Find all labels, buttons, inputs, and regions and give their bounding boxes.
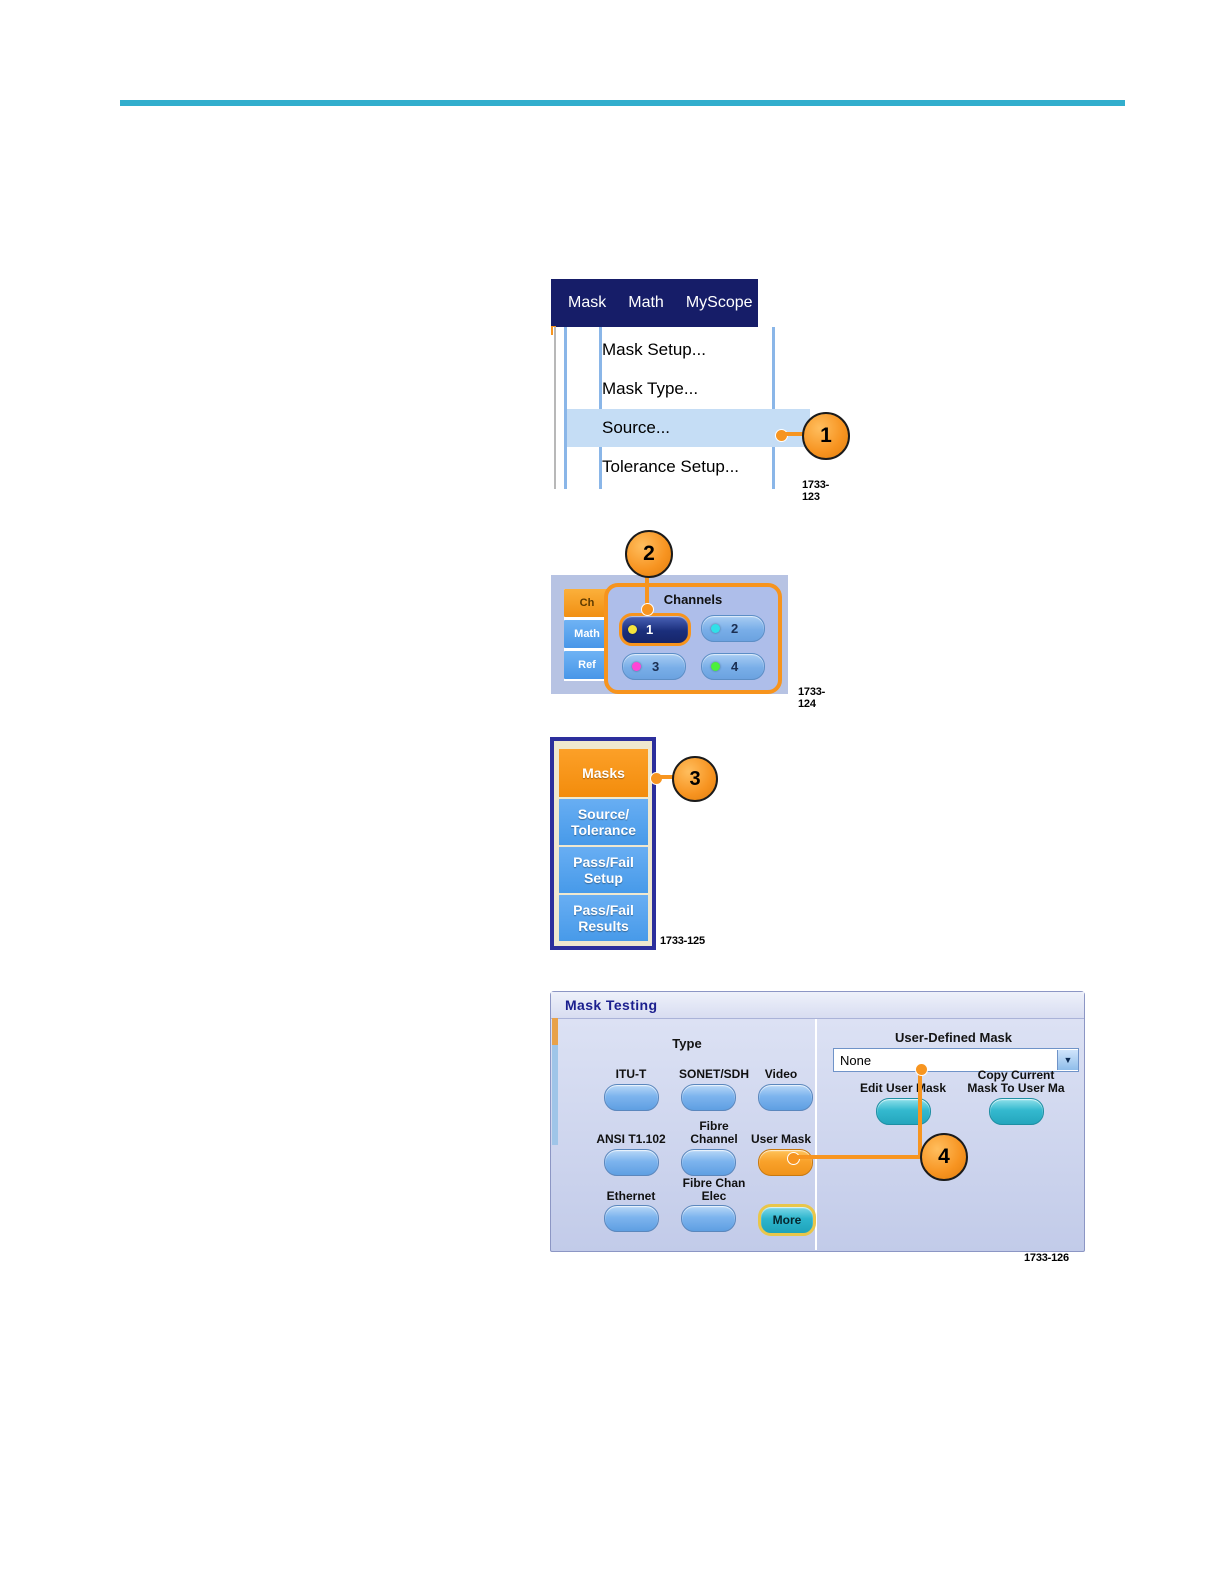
channel-3-led-icon — [632, 662, 641, 671]
copy-current-mask-label: Copy Current Mask To User Ma — [951, 1069, 1081, 1095]
type-button-ethernet[interactable] — [604, 1205, 659, 1232]
user-defined-mask-label: User-Defined Mask — [841, 1030, 1066, 1045]
more-button-label: More — [773, 1213, 802, 1227]
sidemenu-button-passfail-results-label: Pass/Fail Results — [573, 902, 634, 934]
figure-mask-testing-dialog: Mask Testing Type ITU-T SONET/SDH Video … — [550, 991, 1087, 1266]
user-defined-mask-value: None — [834, 1053, 1057, 1068]
type-button-user-mask[interactable] — [758, 1149, 813, 1176]
sidemenu-button-passfail-setup-label: Pass/Fail Setup — [573, 854, 634, 886]
menu-item-source[interactable]: Source... — [567, 409, 810, 447]
left-edge-strip-blue — [552, 1045, 558, 1145]
callout-1: 1 — [802, 412, 850, 460]
type-button-ansi-t1102-label: ANSI T1.102 — [591, 1133, 671, 1146]
oscilloscope-menubar: Mask Math MyScope — [551, 279, 758, 327]
mask-testing-title: Mask Testing — [565, 997, 657, 1013]
mask-testing-window: Mask Testing Type ITU-T SONET/SDH Video … — [550, 991, 1085, 1252]
channel-button-2[interactable]: 2 — [701, 615, 765, 642]
menu-mask[interactable]: Mask — [557, 294, 617, 312]
edit-user-mask-button[interactable] — [876, 1098, 931, 1125]
channels-group-label: Channels — [608, 592, 778, 607]
dropdown-rail-blue-left — [564, 327, 567, 489]
menu-item-tolerance-setup[interactable]: Tolerance Setup... — [602, 448, 775, 486]
sidemenu-button-masks-label: Masks — [582, 765, 625, 781]
type-button-user-mask-label: User Mask — [741, 1133, 821, 1146]
type-button-fibre-chan-elec-label: Fibre Chan Elec — [674, 1177, 754, 1203]
figure-3-caption: 1733-125 — [660, 935, 705, 947]
channels-group: Channels 1 2 3 4 — [604, 583, 782, 694]
channel-2-led-icon — [711, 624, 720, 633]
figure-mask-menu: Mask Math MyScope Mask Setup... Mask Typ… — [551, 279, 788, 489]
type-section-label: Type — [647, 1036, 727, 1051]
channel-1-led-icon — [628, 625, 637, 634]
channel-4-led-icon — [711, 662, 720, 671]
menu-item-mask-setup[interactable]: Mask Setup... — [602, 331, 775, 369]
sidemenu-button-source-tolerance-label: Source/ Tolerance — [571, 806, 636, 838]
sidemenu-button-passfail-results[interactable]: Pass/Fail Results — [559, 895, 648, 941]
channel-button-2-label: 2 — [731, 621, 738, 636]
type-button-video-label: Video — [741, 1068, 821, 1081]
channel-button-1-label: 1 — [646, 622, 653, 637]
type-button-ethernet-label: Ethernet — [591, 1190, 671, 1203]
channel-button-4-label: 4 — [731, 659, 738, 674]
source-tab-ref-label: Ref — [578, 659, 596, 671]
sidemenu-button-passfail-setup[interactable]: Pass/Fail Setup — [559, 847, 648, 893]
copy-current-mask-button[interactable] — [989, 1098, 1044, 1125]
more-button[interactable]: More — [758, 1204, 816, 1236]
source-tab-ch-label: Ch — [580, 597, 595, 609]
figure-2-caption: 1733-124 — [798, 686, 825, 710]
menu-item-source-label: Source... — [602, 418, 670, 438]
chevron-down-icon[interactable]: ▼ — [1057, 1050, 1078, 1070]
figure-channels-source: Ch Math Ref Channels 1 2 3 4 1733-124 — [551, 575, 788, 700]
callout-4-anchor-dot-combobox — [915, 1063, 928, 1076]
channel-button-4[interactable]: 4 — [701, 653, 765, 680]
callout-4-leader-line-horizontal — [795, 1155, 925, 1159]
edit-user-mask-label: Edit User Mask — [843, 1082, 963, 1095]
callout-4: 4 — [920, 1133, 968, 1181]
callout-2: 2 — [625, 530, 673, 578]
type-button-itu-t[interactable] — [604, 1084, 659, 1111]
menu-math[interactable]: Math — [617, 294, 675, 312]
mask-menu-dropdown: Mask Setup... Mask Type... Source... Tol… — [553, 327, 788, 489]
type-button-sonet-sdh[interactable] — [681, 1084, 736, 1111]
channel-button-3[interactable]: 3 — [622, 653, 686, 680]
channel-button-1[interactable]: 1 — [619, 613, 691, 646]
menu-myscope[interactable]: MyScope — [675, 294, 764, 312]
callout-4-leader-line-vertical — [918, 1068, 922, 1158]
figure-4-caption: 1733-126 — [1024, 1252, 1069, 1264]
sidemenu-button-masks[interactable]: Masks — [559, 749, 648, 797]
figure-1-caption: 1733-123 — [802, 479, 829, 503]
menu-item-tolerance-setup-label: Tolerance Setup... — [602, 457, 739, 477]
callout-3: 3 — [672, 756, 718, 802]
page-header-rule — [120, 100, 1125, 106]
type-button-fibre-channel[interactable] — [681, 1149, 736, 1176]
sidemenu-button-source-tolerance[interactable]: Source/ Tolerance — [559, 799, 648, 845]
dropdown-rail-grey — [554, 327, 556, 489]
type-button-ansi-t1102[interactable] — [604, 1149, 659, 1176]
menu-item-mask-type[interactable]: Mask Type... — [602, 370, 775, 408]
source-tab-math-label: Math — [574, 628, 600, 640]
menu-item-mask-type-label: Mask Type... — [602, 379, 698, 399]
type-button-video[interactable] — [758, 1084, 813, 1111]
channel-button-3-label: 3 — [652, 659, 659, 674]
menu-item-mask-setup-label: Mask Setup... — [602, 340, 706, 360]
left-edge-strip-orange — [552, 1018, 558, 1045]
type-button-fibre-chan-elec[interactable] — [681, 1205, 736, 1232]
callout-2-anchor-dot — [641, 603, 654, 616]
type-button-itu-t-label: ITU-T — [591, 1068, 671, 1081]
